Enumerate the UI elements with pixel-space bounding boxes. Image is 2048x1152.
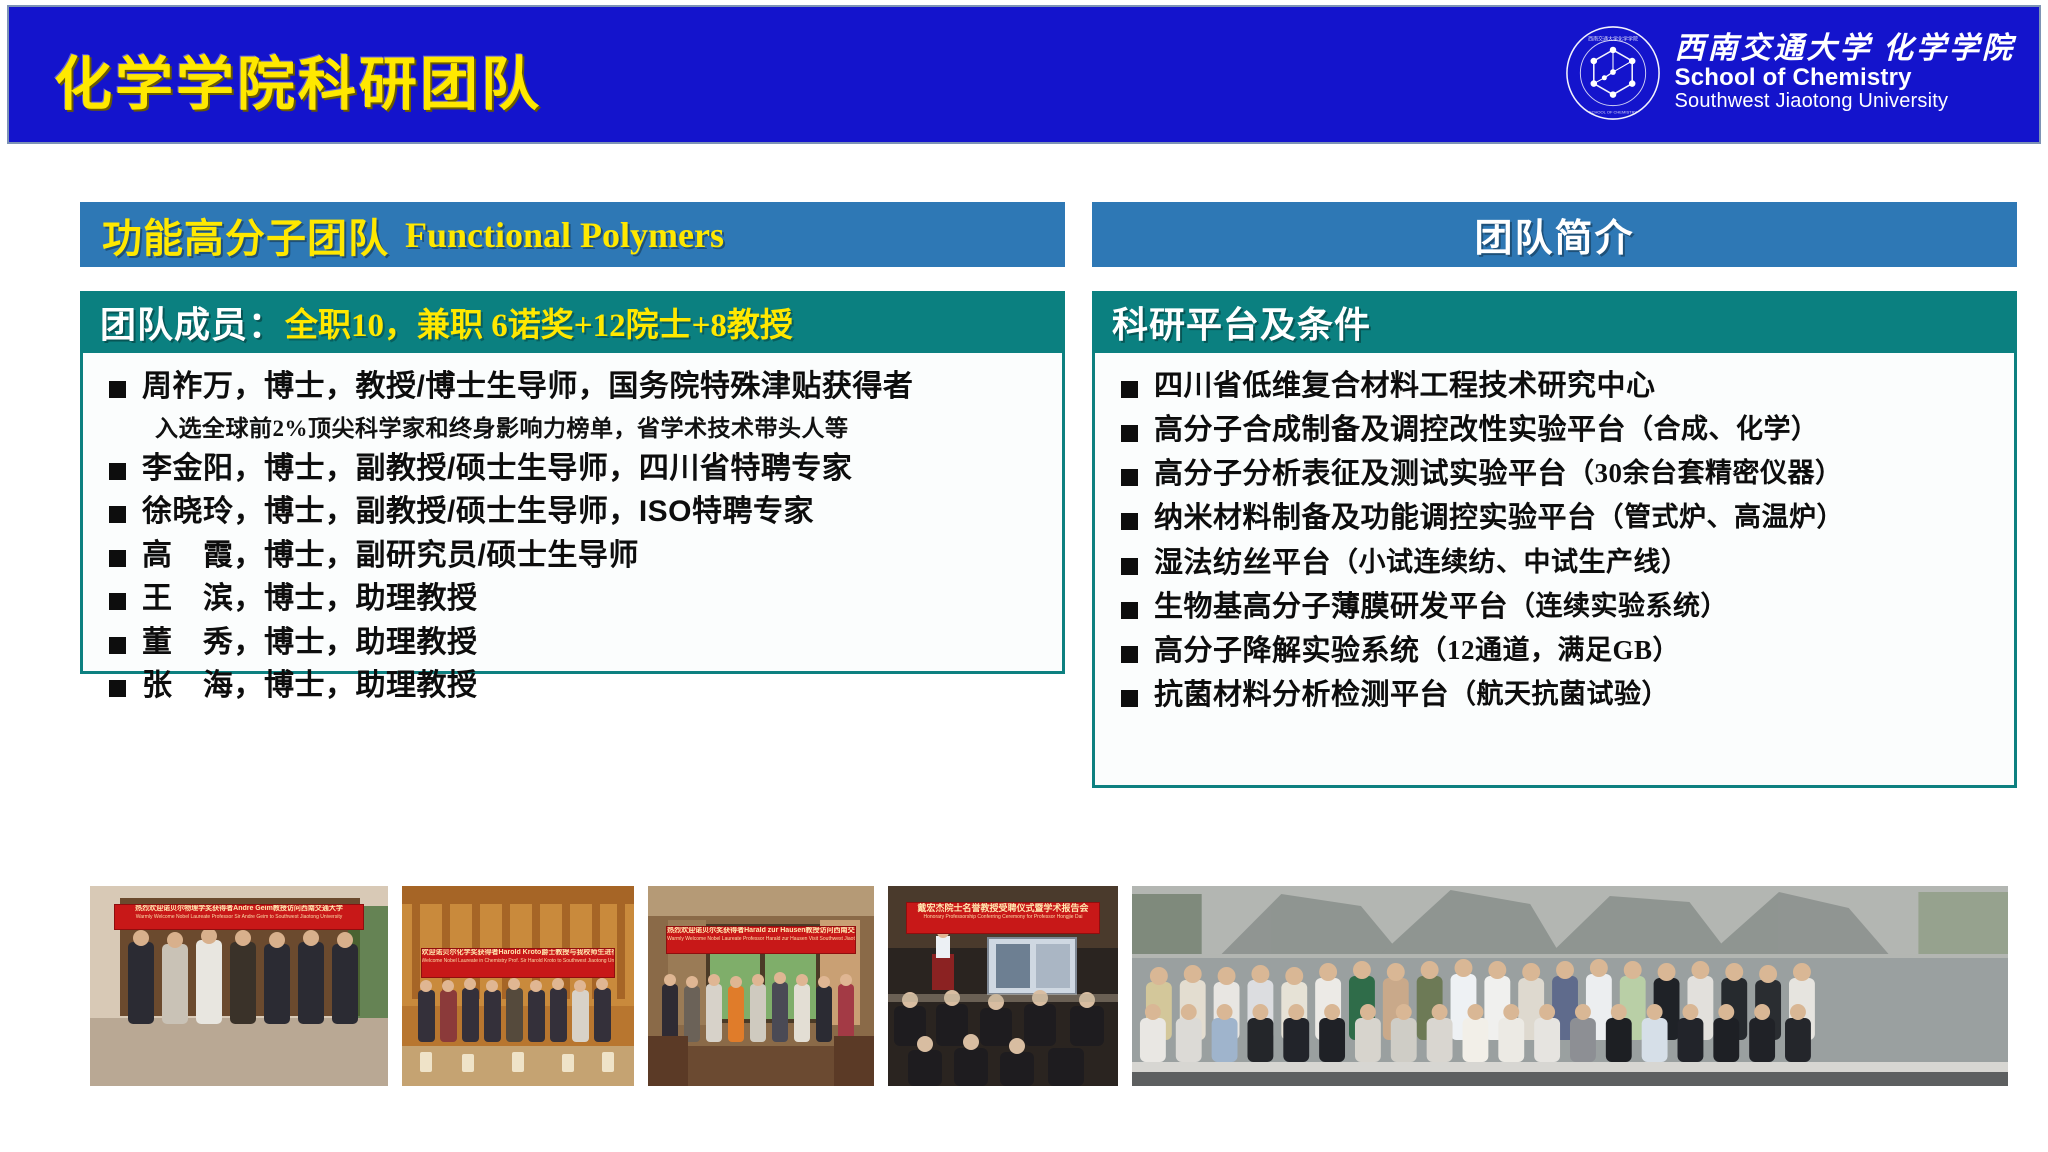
team-members-panel: 团队成员： 全职10，兼职 6诺奖+12院士+8教授 周祚万，博士，教授/博士生…	[80, 291, 1065, 674]
right-band-team-intro: 团队简介	[1092, 202, 2017, 267]
platform-detail: （管式炉、高温炉）	[1597, 499, 1845, 535]
list-item: 徐晓玲，博士，副教授/硕士生导师，ISO特聘专家	[97, 492, 1054, 533]
photo-research-group-outdoor-photo	[1132, 886, 2008, 1086]
platform-name: 纳米材料制备及功能调控实验平台	[1154, 499, 1597, 538]
list-item: 高分子合成制备及调控改性实验平台 （合成、化学）	[1109, 411, 2006, 450]
photo-banner: 热烈欢迎诺贝尔奖获得者Harald zur Hausen教授访问西南交通大学 W…	[666, 926, 856, 954]
member-name-title: 徐晓玲，博士，副教授/硕士生导师，ISO特聘专家	[142, 492, 814, 533]
list-item: 高分子降解实验系统 （12通道，满足GB）	[1109, 632, 2006, 671]
logo-cn-name: 西南交通大学 化学学院	[1675, 33, 2016, 65]
team-members-list: 周祚万，博士，教授/博士生导师，国务院特殊津贴获得者 入选全球前2%顶尖科学家和…	[83, 353, 1062, 671]
list-item: 周祚万，博士，教授/博士生导师，国务院特殊津贴获得者	[97, 367, 1054, 408]
university-logo-block: 西南交通大学化学学院 SCHOOL OF CHEMISTRY 西南交通大学 化学…	[1565, 25, 2016, 121]
photo-nobel-laureate-andre-geim-visit-group-photo: 热烈欢迎诺贝尔物理学奖获得者Andre Geim教授访问西南交通大学 Warml…	[90, 886, 388, 1086]
square-bullet-icon	[109, 593, 126, 610]
list-item: 湿法纺丝平台 （小试连续纺、中试生产线）	[1109, 544, 2006, 583]
platform-name: 高分子降解实验系统	[1154, 632, 1420, 671]
team-members-head-value: 全职10，兼职 6诺奖+12院士+8教授	[285, 298, 793, 346]
list-item: 抗菌材料分析检测平台 （航天抗菌试验）	[1109, 676, 2006, 715]
square-bullet-icon	[109, 463, 126, 480]
left-column: 功能高分子团队 Functional Polymers 团队成员： 全职10，兼…	[80, 202, 1065, 674]
platform-name: 生物基高分子薄膜研发平台	[1154, 588, 1508, 627]
square-bullet-icon	[1121, 513, 1138, 530]
photo-image	[402, 886, 634, 1086]
platform-name: 高分子分析表征及测试实验平台	[1154, 455, 1567, 494]
photo-banner: 欢迎诺贝尔化学奖获得者Harold Kroto爵士教授与我校师生进行学术交流 W…	[421, 948, 616, 978]
slide-root: 化学学院科研团队 西南交通大学化学学院 SCHOOL OF CHEMIS	[0, 0, 2048, 1152]
list-item: 张 海，博士，助理教授	[97, 666, 1054, 707]
photo-banner-en: Welcome Nobel Laureate in Chemistry Prof…	[422, 958, 615, 964]
right-band-label: 团队简介	[1474, 207, 1634, 262]
photo-strip: 热烈欢迎诺贝尔物理学奖获得者Andre Geim教授访问西南交通大学 Warml…	[90, 886, 2008, 1086]
photo-banner: 戴宏杰院士名誉教授受聘仪式暨学术报告会 Honorary Professorsh…	[906, 902, 1099, 934]
square-bullet-icon	[109, 680, 126, 697]
research-platform-panel: 科研平台及条件 四川省低维复合材料工程技术研究中心 高分子合成制备及调控改性实验…	[1092, 291, 2017, 788]
platform-detail: （合成、化学）	[1626, 411, 1819, 447]
photo-image	[648, 886, 874, 1086]
team-members-panel-head: 团队成员： 全职10，兼职 6诺奖+12院士+8教授	[80, 291, 1065, 353]
list-item: 高分子分析表征及测试实验平台 （30余台套精密仪器）	[1109, 455, 2006, 494]
platform-detail: （30余台套精密仪器）	[1567, 455, 1843, 491]
svg-text:SCHOOL OF CHEMISTRY: SCHOOL OF CHEMISTRY	[1588, 109, 1637, 114]
logo-en-university: Southwest Jiaotong University	[1675, 91, 2016, 113]
team-members-head-label: 团队成员：	[100, 296, 285, 348]
photo-banner-en: Warmly Welcome Nobel Laureate Professor …	[667, 936, 855, 942]
member-name-title: 李金阳，博士，副教授/硕士生导师，四川省特聘专家	[142, 449, 852, 490]
photo-banner-en: Honorary Professorship Conferring Ceremo…	[907, 914, 1098, 920]
member-name-title: 张 海，博士，助理教授	[142, 666, 478, 707]
research-platform-head-label: 科研平台及条件	[1112, 296, 1371, 348]
member-name-title: 董 秀，博士，助理教授	[142, 623, 478, 664]
member-name-title: 周祚万，博士，教授/博士生导师，国务院特殊津贴获得者	[142, 367, 913, 408]
square-bullet-icon	[109, 637, 126, 654]
left-band-functional-polymers: 功能高分子团队 Functional Polymers	[80, 202, 1065, 267]
list-item: 纳米材料制备及功能调控实验平台 （管式炉、高温炉）	[1109, 499, 2006, 538]
logo-en-school: School of Chemistry	[1675, 65, 2016, 91]
photo-banner: 热烈欢迎诺贝尔物理学奖获得者Andre Geim教授访问西南交通大学 Warml…	[114, 904, 364, 930]
research-platform-panel-head: 科研平台及条件	[1092, 291, 2017, 353]
page-title: 化学学院科研团队	[54, 37, 542, 121]
platform-name: 高分子合成制备及调控改性实验平台	[1154, 411, 1626, 450]
platform-name: 抗菌材料分析检测平台	[1154, 676, 1449, 715]
list-item: 高 霞，博士，副研究员/硕士生导师	[97, 536, 1054, 577]
svg-text:西南交通大学化学学院: 西南交通大学化学学院	[1588, 35, 1638, 42]
square-bullet-icon	[109, 550, 126, 567]
member-name-title: 王 滨，博士，助理教授	[142, 579, 478, 620]
platform-name: 四川省低维复合材料工程技术研究中心	[1154, 367, 1656, 406]
square-bullet-icon	[1121, 558, 1138, 575]
member-note: 入选全球前2%顶尖科学家和终身影响力榜单，省学术技术带头人等	[155, 409, 1054, 443]
photo-harold-kroto-banquet-group-photo: 欢迎诺贝尔化学奖获得者Harold Kroto爵士教授与我校师生进行学术交流 W…	[402, 886, 634, 1086]
square-bullet-icon	[1121, 646, 1138, 663]
research-platform-list: 四川省低维复合材料工程技术研究中心 高分子合成制备及调控改性实验平台 （合成、化…	[1095, 353, 2014, 785]
photo-image	[1132, 886, 2008, 1086]
list-item: 董 秀，博士，助理教授	[97, 623, 1054, 664]
photo-banner-cn: 热烈欢迎诺贝尔物理学奖获得者Andre Geim教授访问西南交通大学	[115, 905, 363, 914]
platform-detail: （连续实验系统）	[1508, 588, 1728, 624]
photo-banner-cn: 欢迎诺贝尔化学奖获得者Harold Kroto爵士教授与我校师生进行学术交流	[422, 949, 615, 958]
square-bullet-icon	[1121, 602, 1138, 619]
photo-banner-en: Warmly Welcome Nobel Laureate Professor …	[115, 914, 363, 920]
square-bullet-icon	[1121, 690, 1138, 707]
photo-banner-cn: 戴宏杰院士名誉教授受聘仪式暨学术报告会	[907, 903, 1098, 914]
list-item: 李金阳，博士，副教授/硕士生导师，四川省特聘专家	[97, 449, 1054, 490]
right-column: 团队简介 科研平台及条件 四川省低维复合材料工程技术研究中心 高分子合成制备及调…	[1092, 202, 2017, 788]
list-item: 四川省低维复合材料工程技术研究中心	[1109, 367, 2006, 406]
photo-banner-cn: 热烈欢迎诺贝尔奖获得者Harald zur Hausen教授访问西南交通大学	[667, 927, 855, 936]
member-name-title: 高 霞，博士，副研究员/硕士生导师	[142, 536, 639, 577]
list-item: 王 滨，博士，助理教授	[97, 579, 1054, 620]
platform-name: 湿法纺丝平台	[1154, 544, 1331, 583]
left-band-en-label: Functional Polymers	[405, 214, 724, 256]
square-bullet-icon	[109, 381, 126, 398]
platform-detail: （12通道，满足GB）	[1420, 632, 1681, 668]
photo-harald-zur-hausen-visit-group-photo: 热烈欢迎诺贝尔奖获得者Harald zur Hausen教授访问西南交通大学 W…	[648, 886, 874, 1086]
platform-detail: （航天抗菌试验）	[1449, 676, 1669, 712]
square-bullet-icon	[1121, 469, 1138, 486]
chemistry-hexagon-seal-logo: 西南交通大学化学学院 SCHOOL OF CHEMISTRY	[1565, 25, 1661, 121]
platform-detail: （小试连续纺、中试生产线）	[1331, 544, 1689, 580]
photo-honorary-professorship-ceremony-hongjie-dai: 戴宏杰院士名誉教授受聘仪式暨学术报告会 Honorary Professorsh…	[888, 886, 1118, 1086]
square-bullet-icon	[109, 506, 126, 523]
square-bullet-icon	[1121, 381, 1138, 398]
slide-header: 化学学院科研团队 西南交通大学化学学院 SCHOOL OF CHEMIS	[7, 5, 2041, 144]
list-item: 生物基高分子薄膜研发平台 （连续实验系统）	[1109, 588, 2006, 627]
left-band-cn-label: 功能高分子团队	[102, 206, 389, 264]
square-bullet-icon	[1121, 425, 1138, 442]
